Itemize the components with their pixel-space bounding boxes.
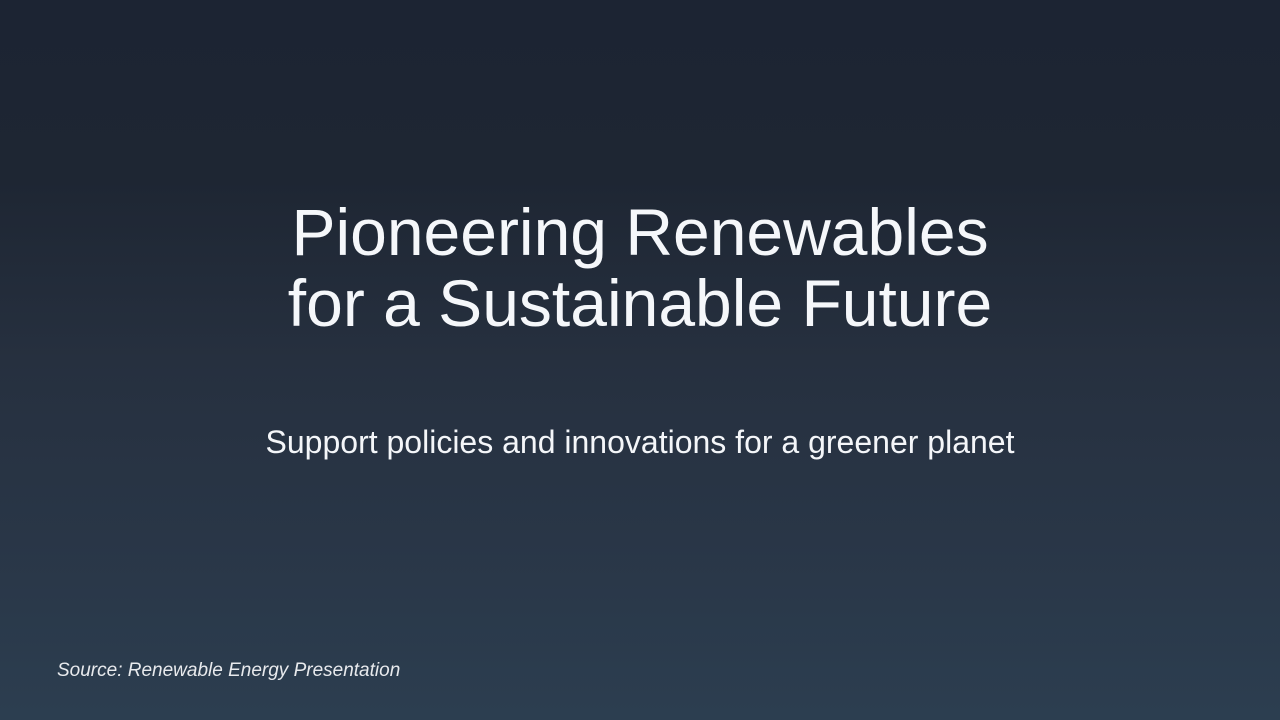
slide-subtitle: Support policies and innovations for a g… — [190, 422, 1090, 462]
slide-title: Pioneering Renewables for a Sustainable … — [260, 197, 1020, 339]
presentation-slide: Pioneering Renewables for a Sustainable … — [0, 0, 1280, 720]
source-attribution: Source: Renewable Energy Presentation — [57, 658, 400, 684]
slide-content-block: Pioneering Renewables for a Sustainable … — [0, 0, 1280, 720]
